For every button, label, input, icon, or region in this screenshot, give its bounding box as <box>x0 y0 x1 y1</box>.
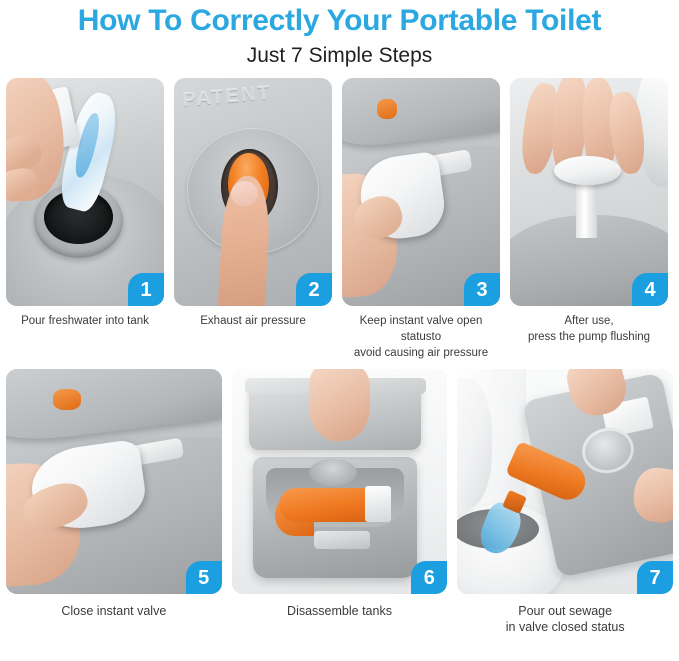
fingernail <box>231 181 258 206</box>
step-number-badge-2: 2 <box>296 273 332 306</box>
step-caption-3: Keep instant valve open statusto avoid c… <box>342 306 500 361</box>
orange-pour-spout <box>279 488 378 522</box>
spout-cap <box>365 486 391 522</box>
scene-keep-valve-open <box>342 78 500 306</box>
step-caption-6: Disassemble tanks <box>232 594 448 619</box>
step-image-2: PATENT 2 <box>174 78 332 306</box>
scene-pour-out-sewage <box>457 369 673 594</box>
infographic-page: How To Correctly Your Portable Toilet Ju… <box>0 0 679 661</box>
step-card-1: 1 Pour freshwater into tank <box>6 78 164 361</box>
step-card-7: 7 Pour out sewage in valve closed status <box>457 369 673 635</box>
scene-disassemble-tanks <box>232 369 448 594</box>
steps-row-top: 1 Pour freshwater into tank PATENT 2 Exh… <box>0 78 679 361</box>
step-image-4: 4 <box>510 78 668 306</box>
step-caption-4: After use, press the pump flushing <box>510 306 668 345</box>
page-title: How To Correctly Your Portable Toilet <box>0 2 679 40</box>
tank-connector-collar <box>309 459 356 486</box>
step-caption-5: Close instant valve <box>6 594 222 619</box>
scene-press-pump-flushing <box>510 78 668 306</box>
step-caption-1: Pour freshwater into tank <box>6 306 164 329</box>
step-number-badge-7: 7 <box>637 561 673 594</box>
step-card-5: 5 Close instant valve <box>6 369 222 635</box>
tank-grip <box>314 531 370 549</box>
page-subtitle: Just 7 Simple Steps <box>0 41 679 71</box>
step-caption-7: Pour out sewage in valve closed status <box>457 594 673 635</box>
step-number-badge-1: 1 <box>128 273 164 306</box>
steps-row-bottom: 5 Close instant valve <box>0 369 679 635</box>
orange-air-button <box>53 389 81 409</box>
step-number-badge-6: 6 <box>411 561 447 594</box>
step-caption-2: Exhaust air pressure <box>174 306 332 329</box>
pump-plunger-cap <box>554 156 620 186</box>
step-number-badge-4: 4 <box>632 273 668 306</box>
step-card-6: 6 Disassemble tanks <box>232 369 448 635</box>
hand <box>309 369 369 441</box>
step-number-badge-3: 3 <box>464 273 500 306</box>
step-card-2: PATENT 2 Exhaust air pressure <box>174 78 332 361</box>
scene-pour-freshwater <box>6 78 164 306</box>
step-image-7: 7 <box>457 369 673 594</box>
scene-close-instant-valve <box>6 369 222 594</box>
step-image-6: 6 <box>232 369 448 594</box>
step-image-1: 1 <box>6 78 164 306</box>
step-card-4: 4 After use, press the pump flushing <box>510 78 668 361</box>
orange-air-button <box>377 99 398 120</box>
scene-exhaust-air-pressure: PATENT <box>174 78 332 306</box>
header: How To Correctly Your Portable Toilet Ju… <box>0 0 679 71</box>
step-image-5: 5 <box>6 369 222 594</box>
step-image-3: 3 <box>342 78 500 306</box>
step-card-3: 3 Keep instant valve open statusto avoid… <box>342 78 500 361</box>
step-number-badge-5: 5 <box>186 561 222 594</box>
